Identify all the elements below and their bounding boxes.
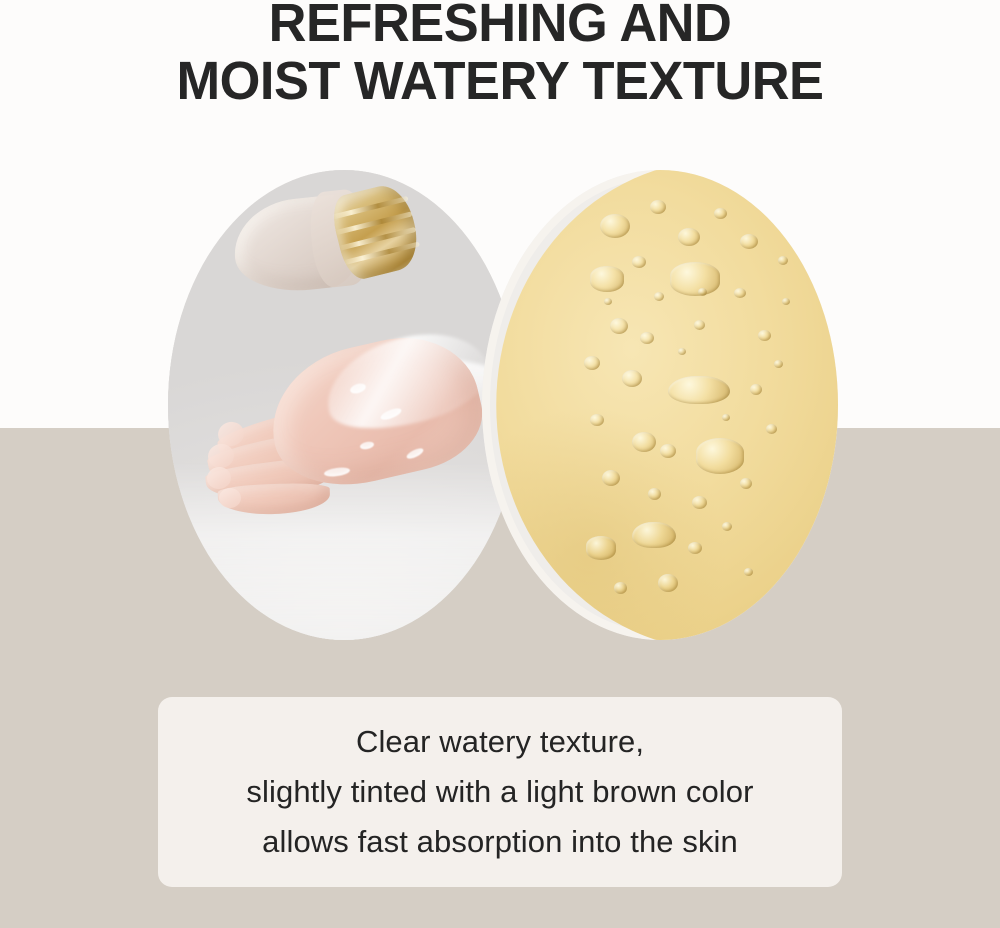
hand-with-clear-gel-image: [168, 170, 520, 640]
serum-bubble: [632, 256, 646, 268]
serum-bubble: [584, 356, 600, 370]
serum-bubble: [622, 370, 642, 387]
caption-line-2: slightly tinted with a light brown color: [158, 767, 842, 817]
serum-bubble: [698, 288, 707, 296]
serum-bubble: [590, 266, 624, 292]
serum-bubble: [696, 438, 744, 474]
serum-bubble: [734, 288, 746, 298]
serum-bubble: [590, 414, 604, 426]
hand: [174, 338, 514, 588]
serum-bottle: [229, 179, 420, 307]
serum-bubble: [614, 582, 627, 594]
page-headline: REFRESHING AND MOIST WATERY TEXTURE: [0, 0, 1000, 110]
serum-bubble: [758, 330, 771, 341]
serum-bubble: [774, 360, 783, 368]
caption-line-3: allows fast absorption into the skin: [158, 817, 842, 867]
serum-bubble: [766, 424, 777, 434]
caption-line-1: Clear watery texture,: [158, 717, 842, 767]
serum-bubble: [740, 478, 752, 489]
headline-line-1: REFRESHING AND: [15, 0, 985, 52]
serum-bubble: [678, 348, 686, 355]
serum-bubble: [668, 376, 730, 404]
serum-bubble: [650, 200, 666, 214]
serum-bubble: [658, 574, 678, 592]
golden-serum-texture-image: [482, 170, 838, 640]
serum-bubble: [604, 298, 612, 305]
serum-bubble: [600, 214, 630, 238]
serum-bubble: [692, 496, 707, 509]
serum-bubble: [778, 256, 788, 265]
golden-gel-shading: [482, 170, 838, 640]
serum-bubble: [610, 318, 628, 334]
headline-line-2: MOIST WATERY TEXTURE: [15, 52, 985, 110]
serum-bubble: [722, 414, 730, 421]
serum-bubble: [744, 568, 753, 576]
serum-bubble: [670, 262, 720, 296]
serum-bubble: [688, 542, 702, 554]
product-detail-banner: REFRESHING AND MOIST WATERY TEXTURE: [0, 0, 1000, 928]
serum-bubble: [660, 444, 676, 458]
serum-bubble: [602, 470, 620, 486]
serum-bubble: [782, 298, 790, 305]
serum-bubble: [722, 522, 732, 531]
caption-card: Clear watery texture, slightly tinted wi…: [158, 697, 842, 887]
serum-bubble: [654, 292, 664, 301]
serum-bubble: [678, 228, 700, 246]
serum-bubble: [632, 522, 676, 548]
serum-bubble: [740, 234, 758, 249]
serum-bubble: [640, 332, 654, 344]
serum-bubble: [648, 488, 661, 500]
serum-bubble: [694, 320, 705, 330]
serum-bubble: [586, 536, 616, 560]
serum-bubble: [750, 384, 762, 395]
serum-bubble: [632, 432, 656, 452]
serum-bubble: [714, 208, 727, 219]
